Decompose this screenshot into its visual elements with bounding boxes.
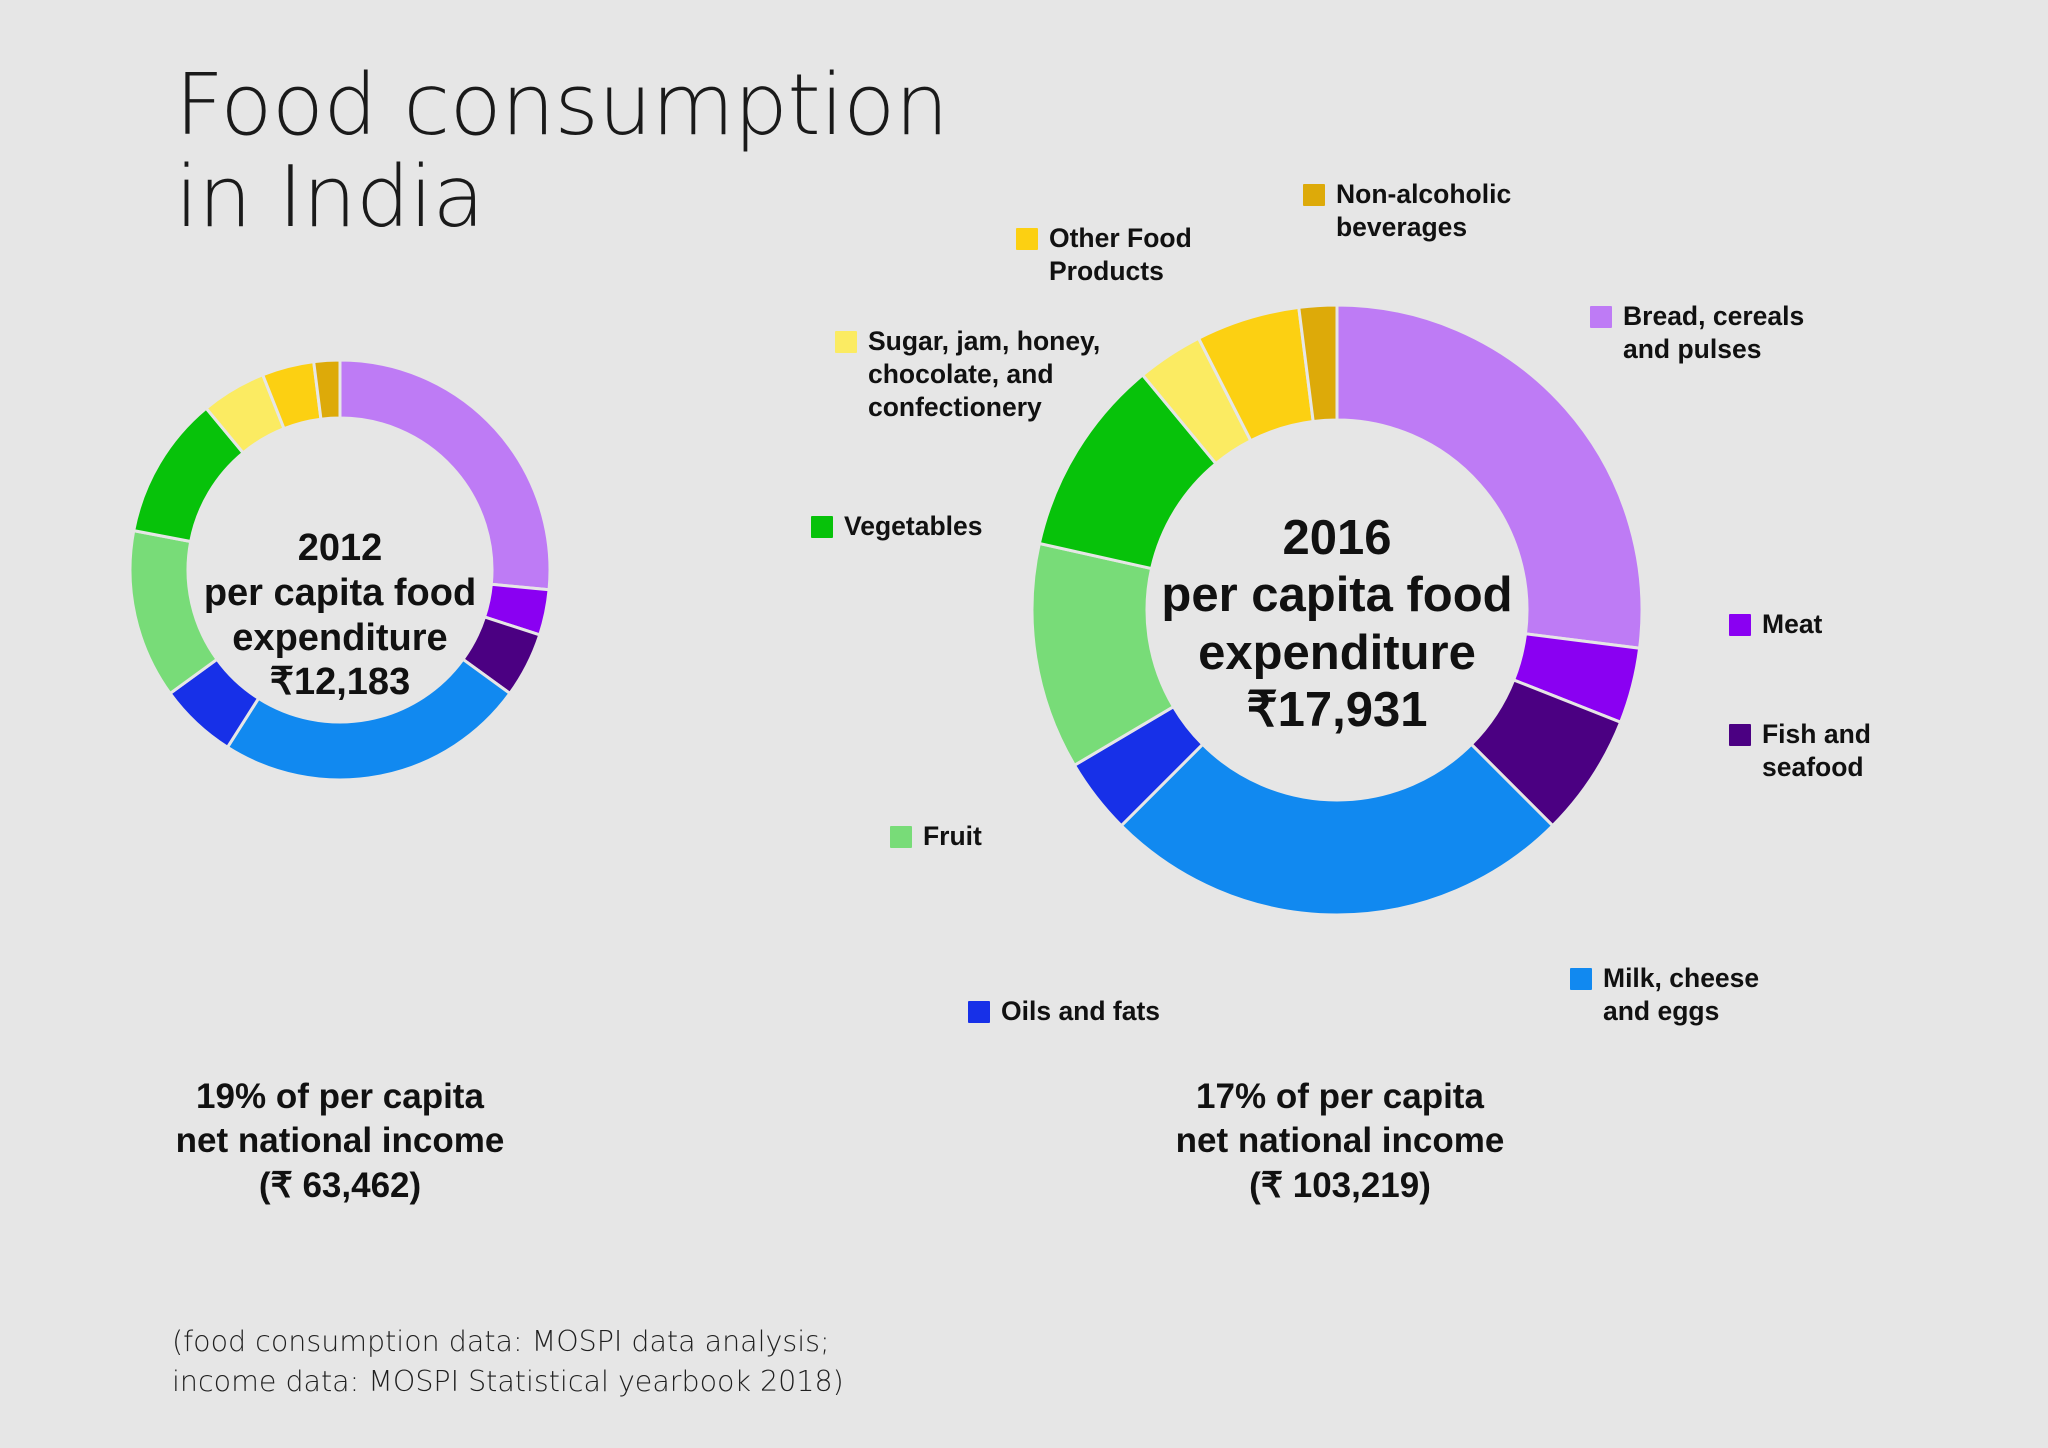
- legend-item-oils[interactable]: Oils and fats: [968, 995, 1160, 1028]
- caption-2016: 17% of per capita net national income (₹…: [1105, 1075, 1575, 1208]
- donut-2016-svg: [1032, 305, 1642, 915]
- legend-item-bread[interactable]: Bread, cereals and pulses: [1590, 300, 1804, 366]
- page-title: Food consumption in India: [175, 60, 948, 244]
- legend-swatch-oils: [968, 1001, 990, 1023]
- legend-item-sugar[interactable]: Sugar, jam, honey, chocolate, and confec…: [835, 325, 1100, 424]
- donut-chart-2012: 2012 per capita food expenditure ₹12,183: [130, 360, 550, 780]
- legend-label-vegetables: Vegetables: [844, 510, 982, 543]
- source-footnote: (food consumption data: MOSPI data analy…: [172, 1322, 844, 1403]
- legend-label-meat: Meat: [1762, 608, 1822, 641]
- legend-swatch-beverages: [1303, 184, 1325, 206]
- donut-2012-svg: [130, 360, 550, 780]
- legend-label-fruit: Fruit: [923, 820, 982, 853]
- legend-label-milk: Milk, cheese and eggs: [1603, 962, 1759, 1028]
- donut-slice[interactable]: [227, 659, 509, 780]
- legend-item-fish[interactable]: Fish and seafood: [1729, 718, 1871, 784]
- legend-label-other-food: Other Food Products: [1049, 222, 1192, 288]
- legend-swatch-other-food: [1016, 228, 1038, 250]
- legend-swatch-fish: [1729, 724, 1751, 746]
- legend-item-other-food[interactable]: Other Food Products: [1016, 222, 1192, 288]
- legend-label-beverages: Non-alcoholic beverages: [1336, 178, 1511, 244]
- legend-swatch-milk: [1570, 968, 1592, 990]
- legend-item-beverages[interactable]: Non-alcoholic beverages: [1303, 178, 1511, 244]
- legend-swatch-meat: [1729, 614, 1751, 636]
- legend-label-fish: Fish and seafood: [1762, 718, 1871, 784]
- legend-swatch-fruit: [890, 826, 912, 848]
- donut-slice[interactable]: [340, 360, 550, 590]
- legend-label-oils: Oils and fats: [1001, 995, 1160, 1028]
- legend-swatch-bread: [1590, 306, 1612, 328]
- legend-label-bread: Bread, cereals and pulses: [1623, 300, 1804, 366]
- caption-2012: 19% of per capita net national income (₹…: [110, 1075, 570, 1208]
- legend-item-milk[interactable]: Milk, cheese and eggs: [1570, 962, 1759, 1028]
- donut-slice[interactable]: [1121, 744, 1552, 915]
- legend-label-sugar: Sugar, jam, honey, chocolate, and confec…: [868, 325, 1100, 424]
- infographic-canvas: Food consumption in India 2012 per capit…: [0, 0, 2048, 1448]
- donut-slice[interactable]: [130, 531, 217, 694]
- legend-swatch-sugar: [835, 331, 857, 353]
- legend-item-vegetables[interactable]: Vegetables: [811, 510, 982, 543]
- legend-swatch-vegetables: [811, 516, 833, 538]
- donut-chart-2016: 2016 per capita food expenditure ₹17,931: [1032, 305, 1642, 915]
- legend-item-meat[interactable]: Meat: [1729, 608, 1822, 641]
- legend-item-fruit[interactable]: Fruit: [890, 820, 982, 853]
